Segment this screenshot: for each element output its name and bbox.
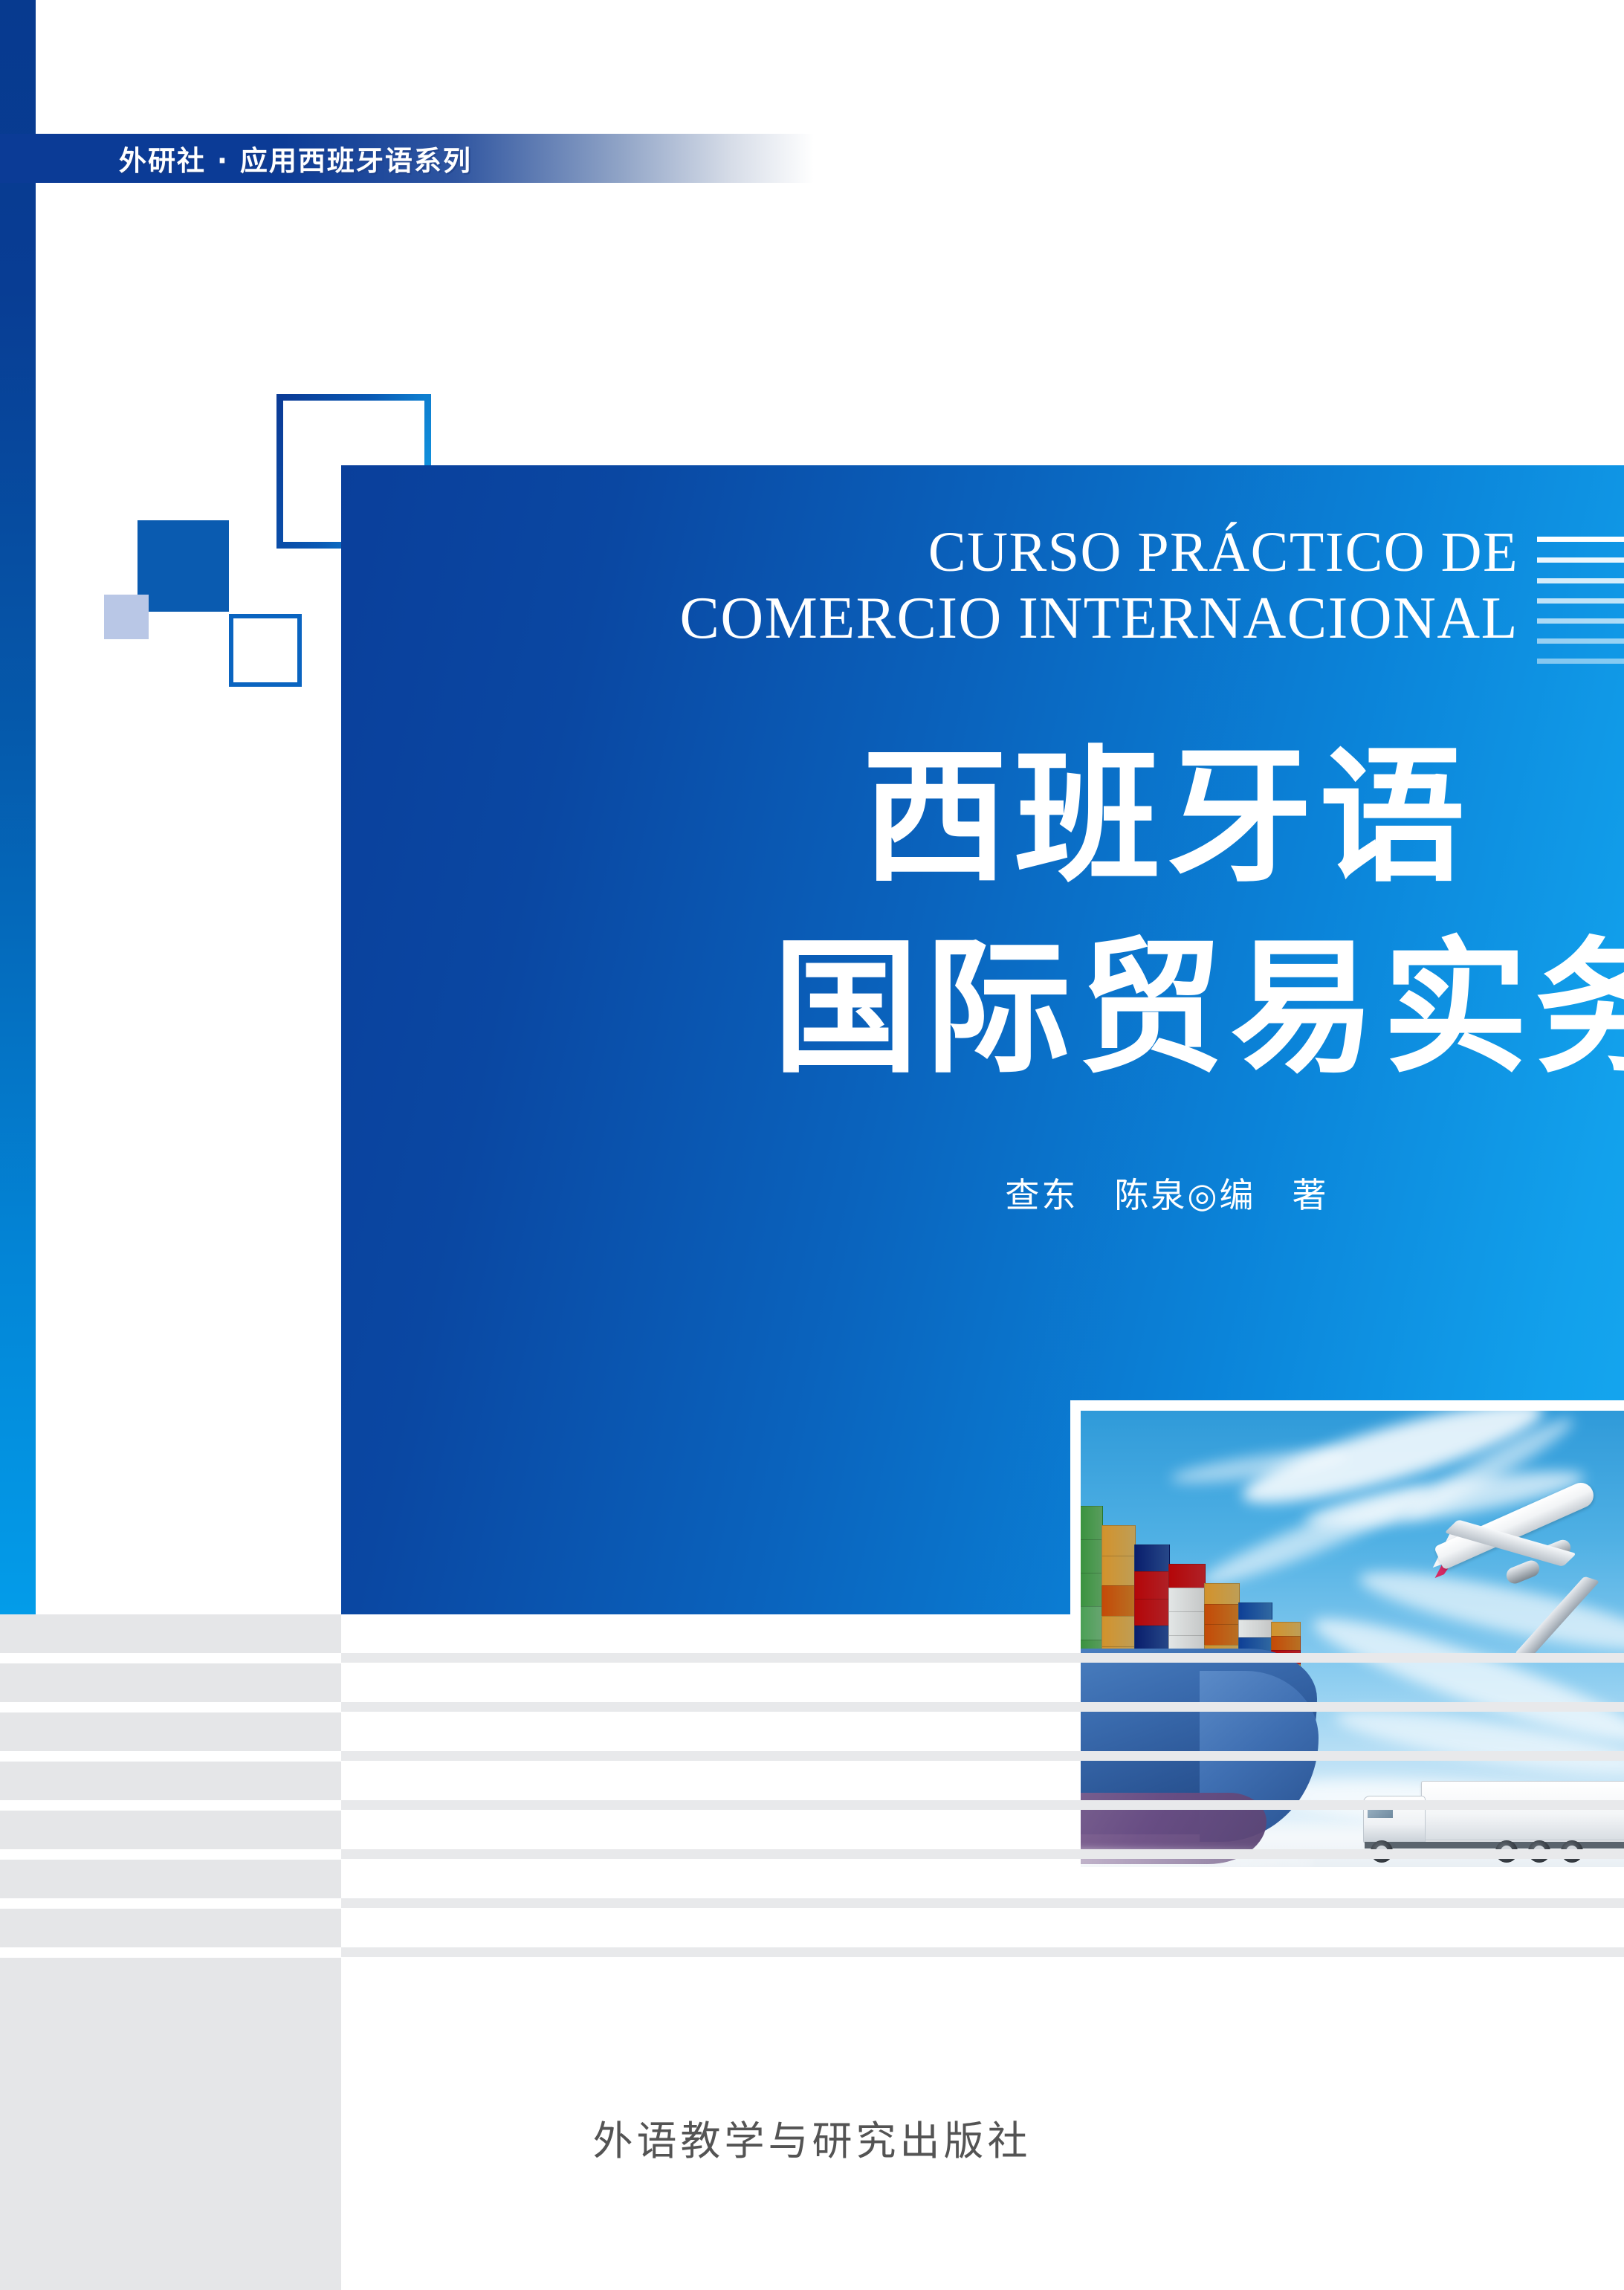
- author-line: 查东 陈泉◎编 著: [773, 1168, 1561, 1217]
- shipping-container: [1134, 1545, 1170, 1572]
- decor-hairline-stripe: [341, 1898, 1624, 1908]
- chinese-title: 西班牙语 国际贸易实务: [773, 722, 1561, 1104]
- decor-stripe: [0, 1811, 341, 1849]
- decor-hairline-stripe: [341, 1947, 1624, 1957]
- decor-hairline: [1537, 598, 1624, 604]
- shipping-container: [1101, 1556, 1136, 1587]
- decor-hairline: [1537, 537, 1624, 542]
- decor-stripe: [0, 1663, 341, 1702]
- decor-square-filled-medium: [138, 520, 229, 612]
- decor-hairline: [1537, 638, 1624, 644]
- decor-hairline-stripe: [341, 1702, 1624, 1712]
- chinese-title-line-2: 国际贸易实务: [773, 913, 1561, 1104]
- shipping-container: [1134, 1571, 1170, 1599]
- decor-stripe: [0, 1909, 341, 1947]
- book-cover: 外研社 · 应用西班牙语系列 CURSO PRÁCTICO DE COMERCI…: [0, 0, 1624, 2290]
- decor-hairlines: [1537, 537, 1624, 664]
- decor-hairline: [1537, 557, 1624, 563]
- decor-hairline: [1537, 618, 1624, 624]
- decor-hairline-stripe: [341, 1751, 1624, 1761]
- shipping-container: [1101, 1525, 1136, 1556]
- publisher-name: 外语教学与研究出版社: [0, 2108, 1624, 2167]
- decor-stripe: [0, 1860, 341, 1898]
- spanish-title-line-1: CURSO PRÁCTICO DE: [329, 520, 1518, 585]
- decor-stripe: [0, 1614, 341, 1653]
- decor-square-outline-small: [229, 614, 302, 687]
- shipping-container: [1168, 1588, 1206, 1612]
- airplane-engine: [1504, 1558, 1542, 1586]
- bottom-stripe-band: [0, 1614, 1624, 2290]
- spanish-title: CURSO PRÁCTICO DE COMERCIO INTERNACIONAL: [329, 520, 1518, 653]
- shipping-container: [1204, 1583, 1240, 1605]
- spanish-title-line-2: COMERCIO INTERNACIONAL: [329, 585, 1518, 653]
- decor-hairline-stripe: [341, 1653, 1624, 1663]
- decor-hairline: [1537, 659, 1624, 664]
- shipping-container: [1081, 1506, 1103, 1540]
- left-accent-bar: [0, 0, 36, 1614]
- shipping-container: [1081, 1573, 1103, 1607]
- decor-hairline-stripe: [341, 1800, 1624, 1810]
- decor-stripe: [0, 1762, 341, 1800]
- decor-square-pale-small: [104, 595, 149, 639]
- shipping-container: [1101, 1585, 1136, 1617]
- chinese-title-line-1: 西班牙语: [773, 722, 1561, 913]
- decor-stripe: [0, 1712, 341, 1751]
- shipping-container: [1081, 1539, 1103, 1573]
- shipping-container: [1168, 1564, 1206, 1588]
- decor-hairline-stripe: [341, 1849, 1624, 1859]
- series-banner-label: 外研社 · 应用西班牙语系列: [119, 138, 472, 178]
- decor-hairline: [1537, 578, 1624, 583]
